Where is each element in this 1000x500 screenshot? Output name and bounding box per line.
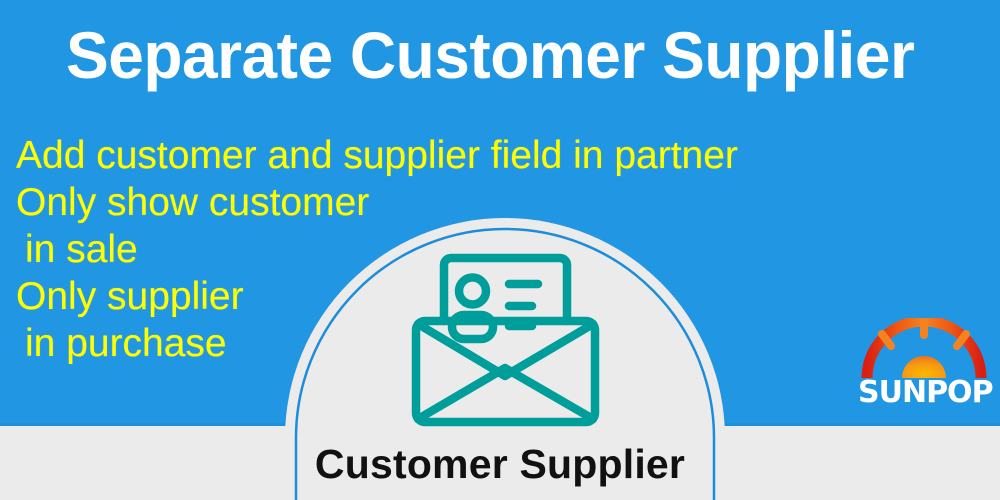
sunpop-wordmark: SUNPOP (858, 376, 990, 410)
contact-card-envelope-icon (408, 250, 603, 430)
feature-line: Add customer and supplier field in partn… (16, 132, 916, 179)
sunpop-logo: SUNPOP (858, 318, 990, 418)
caption-text: Customer Supplier (0, 440, 1000, 488)
promo-banner: Separate Customer Supplier Add customer … (0, 0, 1000, 500)
page-title: Separate Customer Supplier (44, 16, 936, 94)
feature-line: Only show customer (16, 179, 916, 226)
